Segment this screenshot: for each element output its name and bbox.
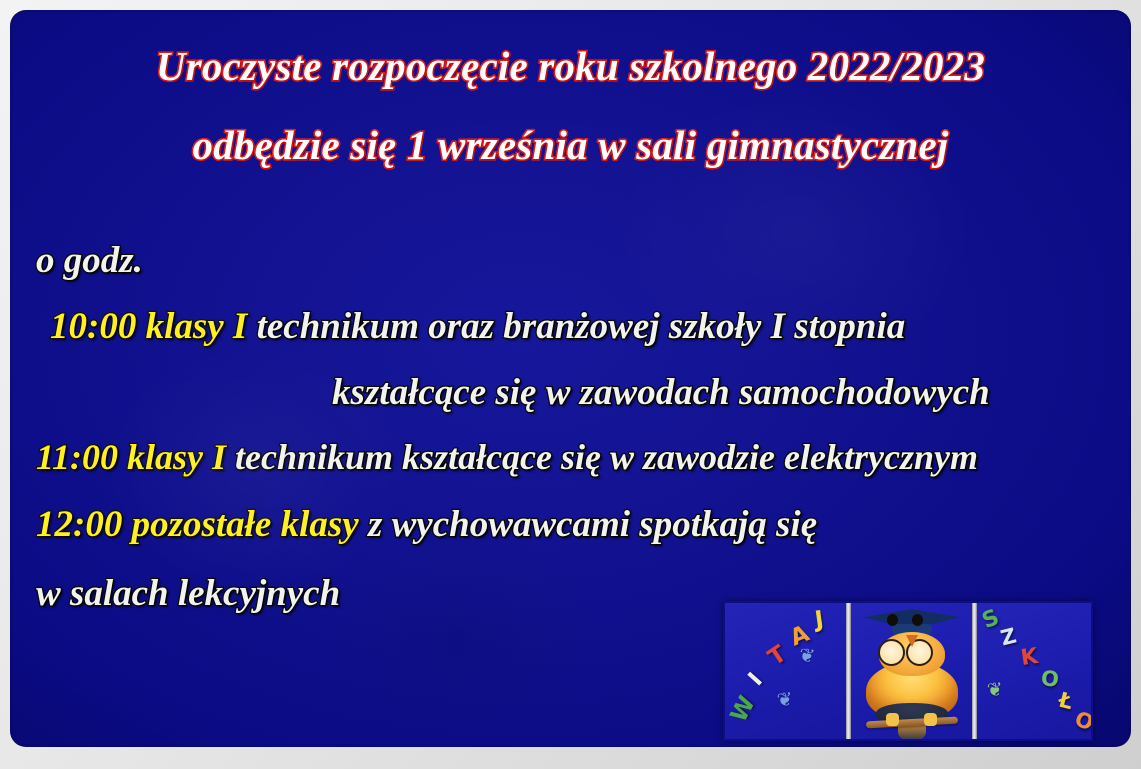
photo-inner: W I T A J ❦ ❦ bbox=[725, 603, 1091, 739]
highlight-1100: klasy I bbox=[127, 437, 226, 477]
text-1100: technikum kształcące się w zawodzie elek… bbox=[235, 437, 978, 477]
body-line-1000: 10:00 klasy I technikum oraz branżowej s… bbox=[36, 308, 1131, 345]
body-line-intro: o godz. bbox=[36, 242, 1131, 279]
owl-eye-left bbox=[878, 639, 905, 666]
owl-beak bbox=[906, 635, 918, 647]
text-1200: z wychowawcami spotkają się bbox=[368, 504, 817, 545]
school-welcome-photo: W I T A J ❦ ❦ bbox=[723, 601, 1093, 741]
foam-letter-z: Z bbox=[999, 625, 1019, 649]
slide-body: o godz. 10:00 klasy I technikum oraz bra… bbox=[36, 242, 1131, 612]
slide-outer-frame: Uroczyste rozpoczęcie roku szkolnego 202… bbox=[0, 0, 1141, 769]
owl-pupil-right bbox=[912, 614, 923, 626]
body-line-1000-continuation: kształcące się w zawodach samochodowych bbox=[36, 374, 1131, 411]
foam-letter-w: W bbox=[728, 693, 760, 726]
butterfly-icon: ❦ bbox=[986, 680, 1003, 700]
text-1000: technikum oraz branżowej szkoły I stopni… bbox=[257, 306, 906, 347]
foam-letter-t: T bbox=[765, 643, 791, 671]
slide-title: Uroczyste rozpoczęcie roku szkolnego 202… bbox=[10, 46, 1131, 166]
body-line-1200: 12:00 pozostałe klasy z wychowawcami spo… bbox=[36, 506, 1131, 543]
slide-surface: Uroczyste rozpoczęcie roku szkolnego 202… bbox=[10, 10, 1131, 747]
photo-panel-szkolo: S Z K O Ł O ❦ bbox=[977, 603, 1091, 739]
owl-icon bbox=[860, 607, 964, 739]
time-1000: 10:00 bbox=[50, 306, 136, 347]
owl-foot-left bbox=[886, 713, 899, 726]
foam-letter-k: K bbox=[1020, 646, 1040, 670]
highlight-1200: pozostałe klasy bbox=[132, 504, 359, 545]
butterfly-icon: ❦ bbox=[798, 646, 816, 667]
foam-letter-o2: O bbox=[1072, 709, 1091, 735]
owl-foot-right bbox=[924, 713, 937, 726]
title-line-1: Uroczyste rozpoczęcie roku szkolnego 202… bbox=[10, 46, 1131, 87]
butterfly-icon: ❦ bbox=[776, 690, 794, 711]
time-1200: 12:00 bbox=[36, 504, 122, 545]
owl-pupil-left bbox=[887, 614, 898, 626]
foam-letter-j: J bbox=[813, 609, 825, 633]
body-line-1100: 11:00 klasy I technikum kształcące się w… bbox=[36, 439, 1131, 475]
highlight-1000: klasy I bbox=[146, 306, 248, 347]
time-1100: 11:00 bbox=[36, 437, 118, 477]
foam-letter-o1: O bbox=[1040, 668, 1060, 691]
title-line-2: odbędzie się 1 września w sali gimnastyc… bbox=[10, 125, 1131, 166]
photo-panel-witaj: W I T A J ❦ ❦ bbox=[725, 603, 846, 739]
photo-panel-owl bbox=[851, 603, 972, 739]
foam-letter-i: I bbox=[745, 670, 767, 691]
foam-letter-l: Ł bbox=[1057, 690, 1075, 714]
